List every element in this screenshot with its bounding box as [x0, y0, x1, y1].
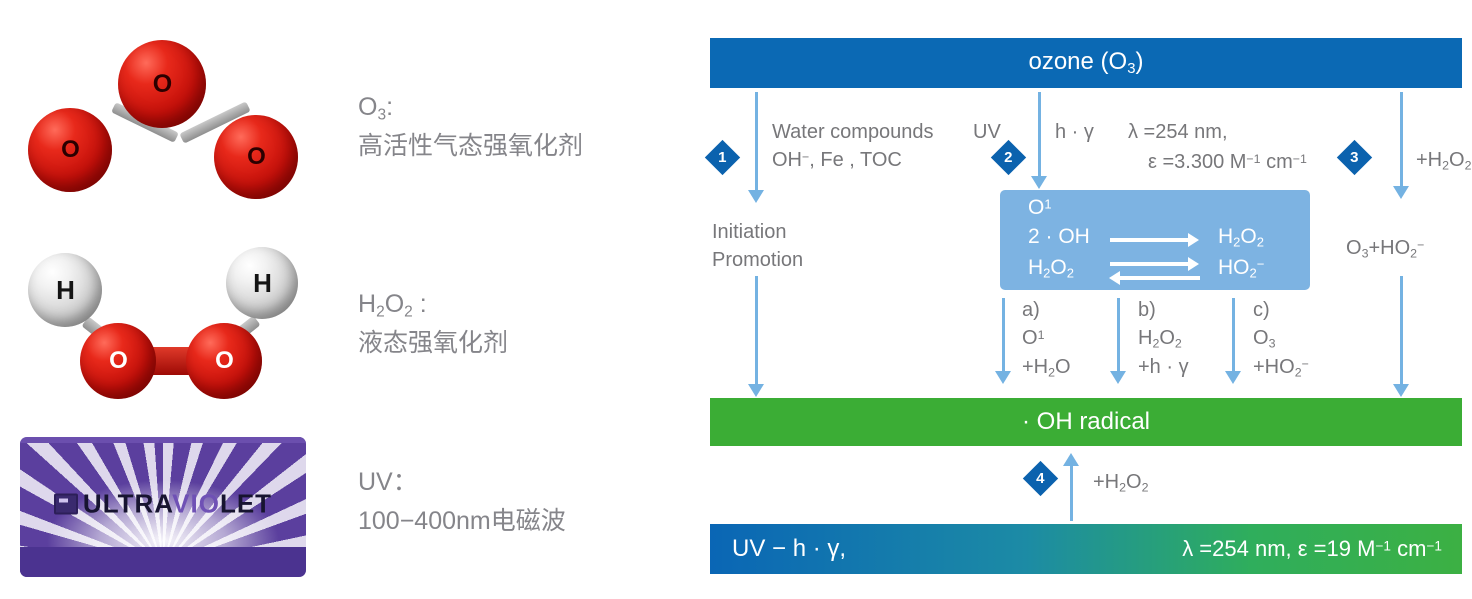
step1-species: OH−, Fe , TOC: [772, 146, 934, 174]
reaction-box: O1 2 · OH H2O2 H2O2 HO2−: [1000, 190, 1310, 290]
branch-a-arrow-shaft: [1002, 298, 1005, 374]
branch-c-text: c) O3 +HO2−: [1253, 296, 1309, 383]
logo-part-vio: VIO: [172, 489, 220, 519]
step3-arrow-shaft-bottom: [1400, 276, 1403, 386]
ozone-formula: O3:: [358, 88, 583, 127]
branch-a-line1: O1: [1022, 324, 1071, 352]
branch-c-arrow-shaft: [1232, 298, 1235, 374]
branch-b-text: b) H2O2 +h · γ: [1138, 296, 1189, 382]
step3-reagent: +H2O2: [1416, 146, 1472, 175]
hydrogen-peroxide-molecule: O O H H: [18, 225, 308, 400]
atom-label-h: H: [226, 247, 298, 319]
step3-arrow-shaft-top: [1400, 92, 1403, 188]
branch-c-line2: +HO2−: [1253, 353, 1309, 382]
hydrogen-peroxide-formula: H2O2 :: [358, 285, 508, 324]
atom-label-o: O: [214, 115, 298, 199]
step-marker-1[interactable]: 1: [705, 140, 740, 175]
logo-part-let: LET: [220, 489, 272, 519]
step4-arrowhead: [1063, 453, 1079, 466]
step4-arrow-shaft: [1070, 465, 1073, 521]
uv-bar-right-label: λ =254 nm, ε =19 M−1 cm−1: [1182, 536, 1442, 562]
step1-result: Initiation Promotion: [712, 218, 803, 275]
step1-arrowhead-bottom: [748, 384, 764, 397]
atom-label-o: O: [28, 108, 112, 192]
step2-lambda: λ =254 nm,: [1128, 118, 1228, 146]
step-marker-4[interactable]: 4: [1023, 461, 1058, 496]
atom-label-h: H: [28, 253, 102, 327]
step2-arrowhead: [1031, 176, 1047, 189]
step3-result: O3+HO2−: [1346, 234, 1424, 263]
branch-a-text: a) O1 +H2O: [1022, 296, 1071, 382]
uv-description: 100−400nm电磁波: [358, 502, 566, 541]
oxygen-atom-right: O: [214, 115, 298, 199]
branch-b-tag: b): [1138, 296, 1189, 324]
card-top-edge: [20, 437, 306, 443]
branch-a-tag: a): [1022, 296, 1071, 324]
single-right-arrow-shaft: [1110, 238, 1190, 242]
step3-arrowhead-top: [1393, 186, 1409, 199]
branch-b-arrowhead: [1110, 371, 1126, 384]
step1-title: Water compounds: [772, 118, 934, 146]
hydrogen-atom-right: H: [226, 247, 298, 319]
step1-reagents: Water compounds OH−, Fe , TOC: [772, 118, 934, 175]
oxygen-atom-left: O: [28, 108, 112, 192]
reaction-row1-right: H2O2: [1218, 225, 1264, 250]
step1-result-line2: Promotion: [712, 246, 803, 274]
atom-label-o: O: [118, 40, 206, 128]
step2-arrow-shaft: [1038, 92, 1041, 184]
card-bottom-edge: [20, 547, 306, 577]
branch-c-arrowhead: [1225, 371, 1241, 384]
branch-c-line1: O3: [1253, 324, 1309, 353]
atom-label-o: O: [186, 323, 262, 399]
branch-b-line1: H2O2: [1138, 324, 1189, 353]
step4-reagent: +H2O2: [1093, 468, 1149, 497]
step-marker-3[interactable]: 3: [1337, 140, 1372, 175]
equilibrium-arrow-back-head: [1109, 271, 1120, 285]
atom-label-o: O: [80, 323, 156, 399]
branch-b-arrow-shaft: [1117, 298, 1120, 374]
oh-radical-label: · OH radical: [1022, 408, 1150, 436]
oh-radical-bar: · OH radical: [710, 398, 1462, 446]
equilibrium-arrow-forward-head: [1188, 257, 1199, 271]
reaction-row2-left: H2O2: [1028, 256, 1074, 281]
step2-uv-label: UV: [973, 118, 1001, 146]
uv-bar-left-label: UV − h · γ,: [732, 535, 846, 563]
reaction-species-o1: O1: [1028, 196, 1052, 220]
ozone-bar: ozone (O3): [710, 38, 1462, 88]
reaction-row2-right: HO2−: [1218, 256, 1264, 281]
ozone-label: O3: 高活性气态强氧化剂: [358, 88, 583, 166]
equilibrium-arrow-forward-shaft: [1110, 262, 1190, 266]
equilibrium-arrow-back-shaft: [1120, 276, 1200, 280]
ultraviolet-card: ULTRAVIOLET: [20, 437, 306, 577]
step2-epsilon: ε =3.300 M−1 cm−1: [1148, 148, 1307, 176]
single-right-arrow-head: [1188, 233, 1199, 247]
ozone-molecule: O O O: [18, 22, 308, 207]
branch-b-line2: +h · γ: [1138, 353, 1189, 381]
oxygen-atom-left: O: [80, 323, 156, 399]
reaction-row1-left: 2 · OH: [1028, 225, 1090, 249]
uv-brand-mark-icon: [54, 494, 78, 515]
step1-arrow-shaft-top: [755, 92, 758, 192]
oxygen-atom-right: O: [186, 323, 262, 399]
uv-bar: UV − h · γ, λ =254 nm, ε =19 M−1 cm−1: [710, 524, 1462, 574]
step1-arrowhead-top: [748, 190, 764, 203]
step1-arrow-shaft-bottom: [755, 276, 758, 386]
hydrogen-peroxide-label: H2O2 : 液态强氧化剂: [358, 285, 508, 363]
uv-label: UV： 100−400nm电磁波: [358, 463, 566, 541]
step2-hv-label: h · γ: [1055, 118, 1094, 146]
branch-a-arrowhead: [995, 371, 1011, 384]
logo-part-ultra: ULTRA: [83, 489, 172, 519]
oxygen-atom-top: O: [118, 40, 206, 128]
branch-c-tag: c): [1253, 296, 1309, 324]
ozone-bar-label: ozone (O3): [1028, 48, 1143, 77]
ozone-description: 高活性气态强氧化剂: [358, 127, 583, 166]
step1-result-line1: Initiation: [712, 218, 803, 246]
branch-a-line2: +H2O: [1022, 353, 1071, 382]
hydrogen-atom-left: H: [28, 253, 102, 327]
hydrogen-peroxide-description: 液态强氧化剂: [358, 324, 508, 363]
ultraviolet-logo: ULTRAVIOLET: [20, 489, 306, 520]
step3-arrowhead-bottom: [1393, 384, 1409, 397]
uv-formula: UV：: [358, 463, 566, 502]
